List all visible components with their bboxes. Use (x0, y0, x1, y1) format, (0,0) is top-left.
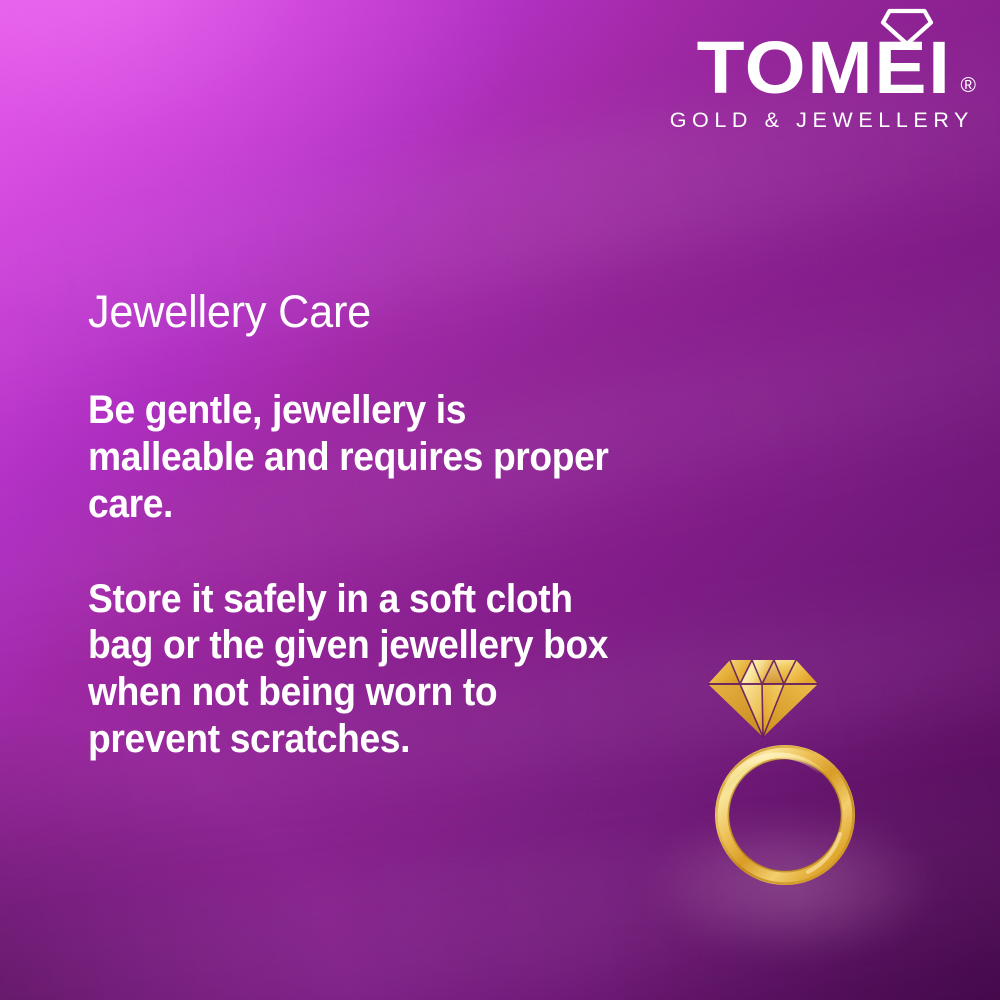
page-title: Jewellery Care (88, 288, 650, 335)
jewellery-care-card: TOMEI ® GOLD & JEWELLERY Jewellery Care … (0, 0, 1000, 1000)
brand-wordmark: TOMEI (697, 34, 952, 102)
care-paragraph-2: Store it safely in a soft cloth bag or t… (88, 576, 632, 763)
care-copy-block: Jewellery Care Be gentle, jewellery is m… (88, 288, 673, 763)
care-paragraph-1: Be gentle, jewellery is malleable and re… (88, 387, 632, 527)
registered-trademark-symbol: ® (961, 75, 976, 96)
wordmark-row: TOMEI ® (648, 8, 978, 102)
brand-tagline: GOLD & JEWELLERY (648, 108, 978, 133)
ring-band (717, 747, 854, 884)
brand-logo: TOMEI ® GOLD & JEWELLERY (648, 8, 978, 133)
diamond-ring-illustration (688, 638, 888, 898)
